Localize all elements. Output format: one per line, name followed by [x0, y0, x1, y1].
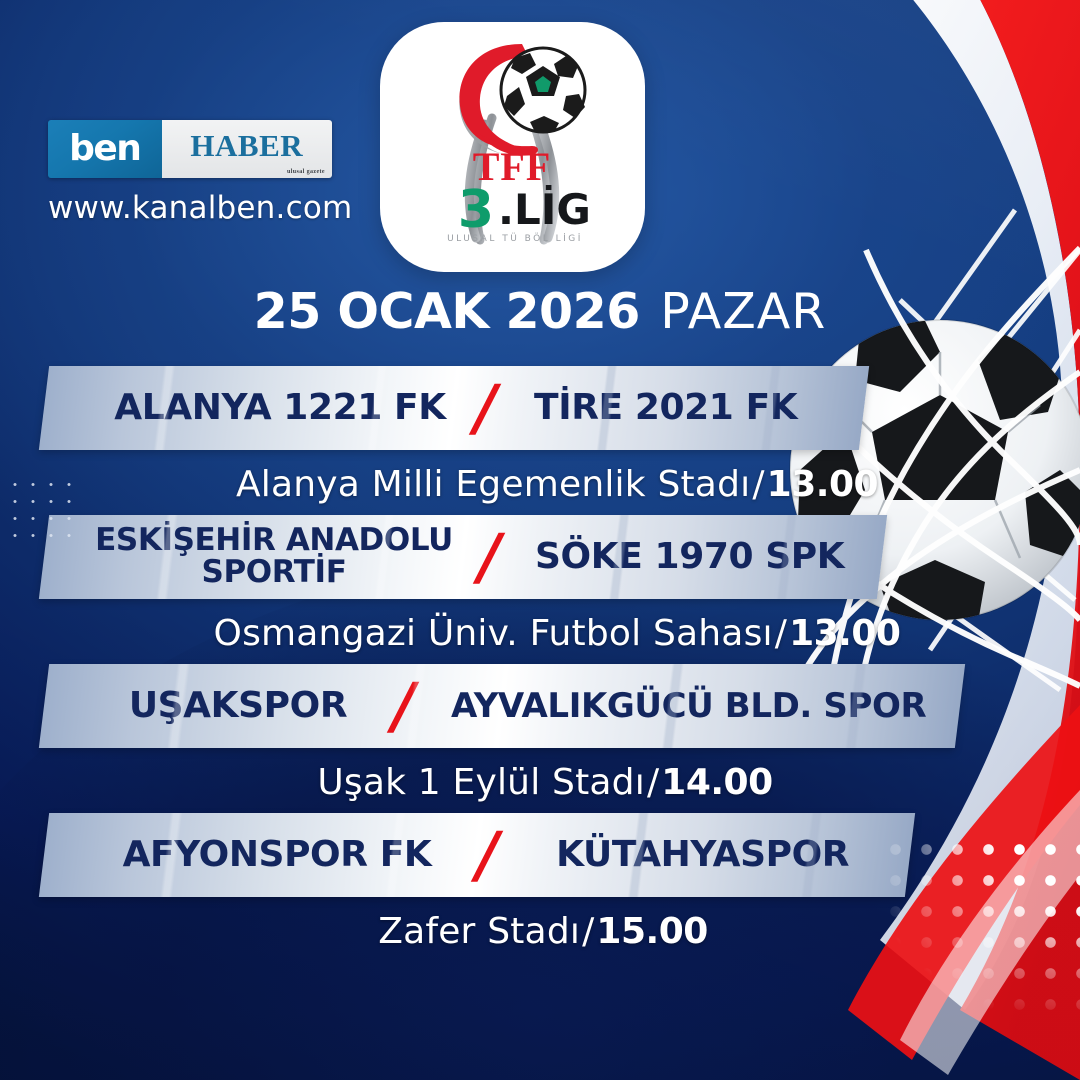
tff-logo-number: 3	[458, 180, 494, 240]
home-team-name: UŞAKSPOR	[88, 688, 388, 725]
league-badge: TFF 3 .LİG ULUSAL TÜ BÖL LİGİ	[380, 22, 645, 272]
tff-logo-lig: .LİG	[498, 184, 591, 234]
match-venue-time: Alanya Milli Egemenlik Stadı/13.00	[0, 450, 1080, 515]
home-team-name: ESKİŞEHİR ANADOLU SPORTİF	[74, 525, 474, 588]
weekday-text: PAZAR	[660, 283, 826, 340]
vs-separator-icon: /	[468, 377, 503, 439]
tff-3-lig-logo-icon: TFF 3 .LİG ULUSAL TÜ BÖL LİGİ	[380, 22, 645, 272]
match-teams-band: ALANYA 1221 FK / TİRE 2021 FK	[39, 366, 869, 450]
website-url[interactable]: www.kanalben.com	[48, 190, 388, 226]
venue-time-separator: /	[580, 911, 596, 952]
away-team-name: TİRE 2021 FK	[501, 390, 831, 427]
match-row[interactable]: AFYONSPOR FK / KÜTAHYASPOR Zafer Stadı/1…	[0, 813, 1080, 962]
poster-canvas: ben HABER ulusal gazete www.kanalben.com	[0, 0, 1080, 1080]
vs-separator-icon: /	[470, 824, 505, 886]
match-list: ALANYA 1221 FK / TİRE 2021 FK Alanya Mil…	[0, 366, 1080, 962]
benhaber-logo-wordmark: HABER ulusal gazete	[162, 120, 332, 178]
match-teams-band: UŞAKSPOR / AYVALIKGÜCÜ BLD. SPOR	[39, 664, 965, 748]
match-row[interactable]: ESKİŞEHİR ANADOLU SPORTİF / SÖKE 1970 SP…	[0, 515, 1080, 664]
home-team-name: AFYONSPOR FK	[82, 837, 472, 874]
kickoff-time: 13.00	[767, 464, 878, 505]
venue-time-separator: /	[645, 762, 661, 803]
date-header: 25 OCAK 2026 PAZAR	[0, 283, 1080, 340]
venue-name: Uşak 1 Eylül Stadı	[317, 762, 645, 803]
venue-name: Zafer Stadı	[378, 911, 580, 952]
kickoff-time: 15.00	[596, 911, 707, 952]
benhaber-logo-tagline: ulusal gazete	[287, 169, 325, 175]
away-team-name: AYVALIKGÜCÜ BLD. SPOR	[419, 689, 959, 724]
tff-logo-tagline: ULUSAL TÜ BÖL LİGİ	[447, 233, 583, 244]
venue-name: Osmangazi Üniv. Futbol Sahası	[214, 613, 773, 654]
match-venue-time: Uşak 1 Eylül Stadı/14.00	[0, 748, 1080, 813]
benhaber-logo-ben: ben	[69, 128, 140, 169]
venue-name: Alanya Milli Egemenlik Stadı	[236, 464, 750, 505]
match-teams-band: AFYONSPOR FK / KÜTAHYASPOR	[39, 813, 915, 897]
match-venue-time: Osmangazi Üniv. Futbol Sahası/13.00	[0, 599, 1080, 664]
match-venue-time: Zafer Stadı/15.00	[0, 897, 1080, 962]
match-teams-band: ESKİŞEHİR ANADOLU SPORTİF / SÖKE 1970 SP…	[39, 515, 887, 599]
brand-block: ben HABER ulusal gazete www.kanalben.com	[48, 120, 388, 226]
match-row[interactable]: ALANYA 1221 FK / TİRE 2021 FK Alanya Mil…	[0, 366, 1080, 515]
benhaber-logo-mark: ben	[48, 120, 162, 178]
away-team-name: KÜTAHYASPOR	[503, 837, 903, 874]
venue-time-separator: /	[750, 464, 766, 505]
match-row[interactable]: UŞAKSPOR / AYVALIKGÜCÜ BLD. SPOR Uşak 1 …	[0, 664, 1080, 813]
kickoff-time: 14.00	[661, 762, 772, 803]
home-team-name: ALANYA 1221 FK	[90, 390, 470, 427]
date-text: 25 OCAK 2026	[254, 283, 640, 340]
kickoff-time: 13.00	[789, 613, 900, 654]
benhaber-logo[interactable]: ben HABER ulusal gazete	[48, 120, 332, 178]
away-team-name: SÖKE 1970 SPK	[505, 539, 875, 576]
benhaber-logo-haber: HABER	[190, 128, 303, 164]
vs-separator-icon: /	[386, 675, 421, 737]
venue-time-separator: /	[773, 613, 789, 654]
vs-separator-icon: /	[472, 526, 507, 588]
